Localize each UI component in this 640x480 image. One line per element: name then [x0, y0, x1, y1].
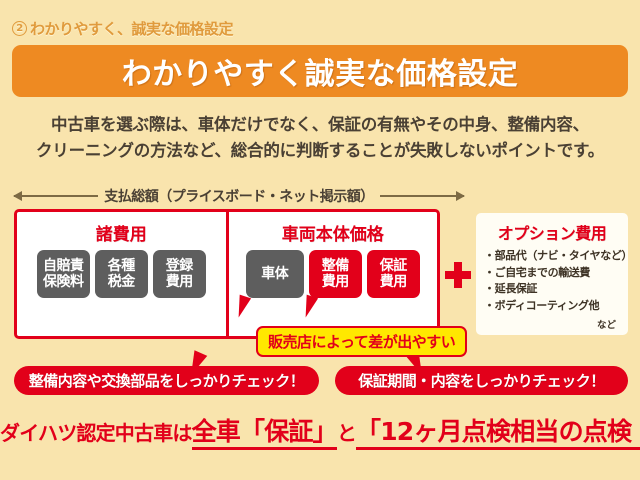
- chip-line-2: 費用: [380, 274, 407, 290]
- chip-line-1: 車体: [261, 266, 288, 282]
- chip-maintenance-fee: 整備 費用: [309, 250, 362, 298]
- lead-paragraph: 中古車を選ぶ際は、車体だけでなく、保証の有無やその中身、整備内容、 クリーニング…: [14, 112, 626, 163]
- headline-text: わかりやすく誠実な価格設定: [122, 49, 519, 93]
- lead-line-1: 中古車を選ぶ際は、車体だけでなく、保証の有無やその中身、整備内容、: [14, 112, 626, 138]
- list-item: ・ご自宅までの輸送費: [484, 265, 620, 282]
- list-item: ・ボディコーティング他: [484, 298, 620, 315]
- lead-line-2: クリーニングの方法など、総合的に判断することが失敗しないポイントです。: [14, 138, 626, 164]
- vehicle-price-group-title: 車両本体価格: [282, 220, 384, 245]
- tagline-part-1: ダイハツ認定中古車は: [0, 421, 192, 445]
- headline-banner: わかりやすく誠実な価格設定: [12, 45, 628, 97]
- check-banner-maintenance-text: 整備内容や交換部品をしっかりチェック！: [29, 370, 305, 391]
- vehicle-price-group: 車両本体価格 車体 整備 費用 保証 費用: [229, 212, 438, 336]
- total-payment-row: 支払総額（プライスボード・ネット掲示額）: [14, 185, 464, 207]
- chip-taxes: 各種 税金: [95, 250, 148, 298]
- left-arrow-icon: [14, 195, 98, 197]
- chip-line-1: 登録: [166, 258, 193, 274]
- chip-line-1: 保証: [380, 258, 407, 274]
- list-item: ・延長保証: [484, 281, 620, 298]
- price-breakdown-box: 諸費用 自賠責 保険料 各種 税金 登録 費用 車両本体価格: [14, 209, 440, 339]
- bottom-tagline: ダイハツ認定中古車は全車「保証」と「12ヶ月点検相当の点検・整備」付き: [0, 412, 640, 448]
- chip-body: 車体: [246, 250, 304, 298]
- chip-line-2: 保険料: [43, 274, 84, 290]
- tagline-conjunction: と: [337, 421, 356, 445]
- fees-chip-list: 自賠責 保険料 各種 税金 登録 費用: [37, 250, 206, 298]
- eyebrow-heading: 2 わかりやすく、誠実な価格設定: [12, 18, 233, 39]
- option-fees-footnote: など: [484, 317, 620, 331]
- tagline-emphasis-inspection: 「12ヶ月点検相当の点検・整備」: [356, 417, 640, 450]
- chip-line-2: 費用: [322, 274, 349, 290]
- tagline-emphasis-warranty: 全車「保証」: [192, 417, 337, 450]
- chip-jibaiseki: 自賠責 保険料: [37, 250, 90, 298]
- plus-icon: [445, 262, 471, 288]
- option-fees-panel: オプション費用 ・部品代（ナビ・タイヤなど） ・ご自宅までの輸送費 ・延長保証 …: [476, 213, 628, 335]
- chip-line-2: 費用: [166, 274, 193, 290]
- chip-warranty-fee: 保証 費用: [367, 250, 420, 298]
- list-item: ・部品代（ナビ・タイヤなど）: [484, 248, 620, 265]
- check-banner-warranty-text: 保証期間・内容をしっかりチェック！: [358, 370, 605, 391]
- dealer-variation-text: 販売店によって差が出やすい: [268, 333, 455, 351]
- right-arrow-icon: [380, 195, 464, 197]
- check-banner-maintenance: 整備内容や交換部品をしっかりチェック！: [14, 366, 319, 395]
- section-number-badge: 2: [12, 21, 27, 36]
- chip-line-2: 税金: [108, 274, 135, 290]
- chip-line-1: 自賠責: [43, 258, 84, 274]
- check-banner-warranty: 保証期間・内容をしっかりチェック！: [335, 366, 628, 395]
- total-payment-label: 支払総額（プライスボード・ネット掲示額）: [104, 186, 374, 206]
- infographic-page: 2 わかりやすく、誠実な価格設定 わかりやすく誠実な価格設定 中古車を選ぶ際は、…: [0, 0, 640, 480]
- eyebrow-label: わかりやすく、誠実な価格設定: [30, 18, 233, 39]
- option-fees-list: ・部品代（ナビ・タイヤなど） ・ご自宅までの輸送費 ・延長保証 ・ボディコーティ…: [484, 248, 620, 315]
- chip-registration: 登録 費用: [153, 250, 206, 298]
- fees-group-title: 諸費用: [96, 220, 147, 245]
- chip-line-1: 整備: [322, 258, 349, 274]
- chip-line-1: 各種: [108, 258, 135, 274]
- fees-group: 諸費用 自賠責 保険料 各種 税金 登録 費用: [17, 212, 229, 336]
- vehicle-chip-list: 車体 整備 費用 保証 費用: [246, 250, 420, 298]
- option-fees-title: オプション費用: [484, 220, 620, 244]
- dealer-variation-callout: 販売店によって差が出やすい: [256, 326, 467, 357]
